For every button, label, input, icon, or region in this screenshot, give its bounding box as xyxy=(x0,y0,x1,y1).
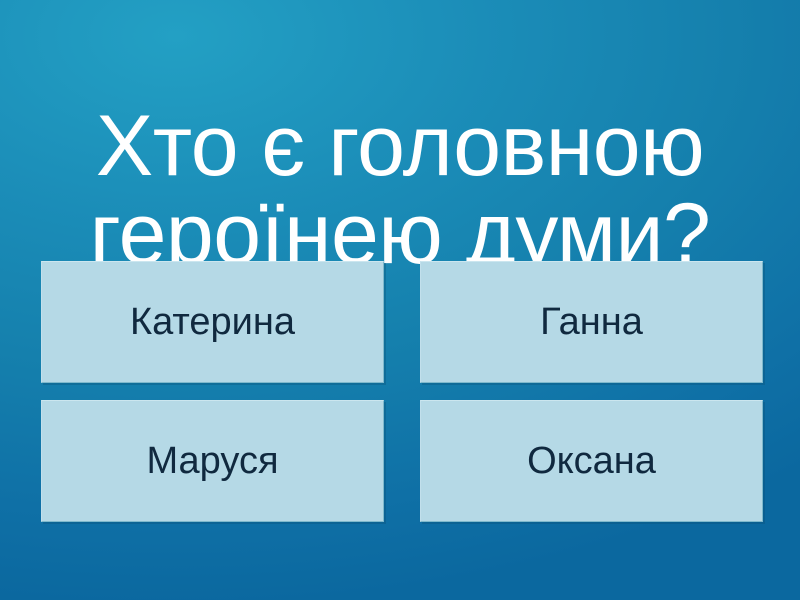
answer-option-katerina[interactable]: Катерина xyxy=(41,261,384,383)
answer-option-label: Ганна xyxy=(540,301,643,343)
answer-option-label: Маруся xyxy=(146,440,278,482)
quiz-slide: Хто є головною героїнею думи? Катерина Г… xyxy=(0,0,800,600)
answer-option-hanna[interactable]: Ганна xyxy=(420,261,763,383)
answer-option-oksana[interactable]: Оксана xyxy=(420,400,763,522)
answer-option-label: Катерина xyxy=(130,301,295,343)
answer-options-grid: Катерина Ганна Маруся Оксана xyxy=(41,261,763,522)
answer-option-label: Оксана xyxy=(527,440,656,482)
answer-option-marusia[interactable]: Маруся xyxy=(41,400,384,522)
page-title: Хто є головною героїнею думи? xyxy=(0,102,800,278)
